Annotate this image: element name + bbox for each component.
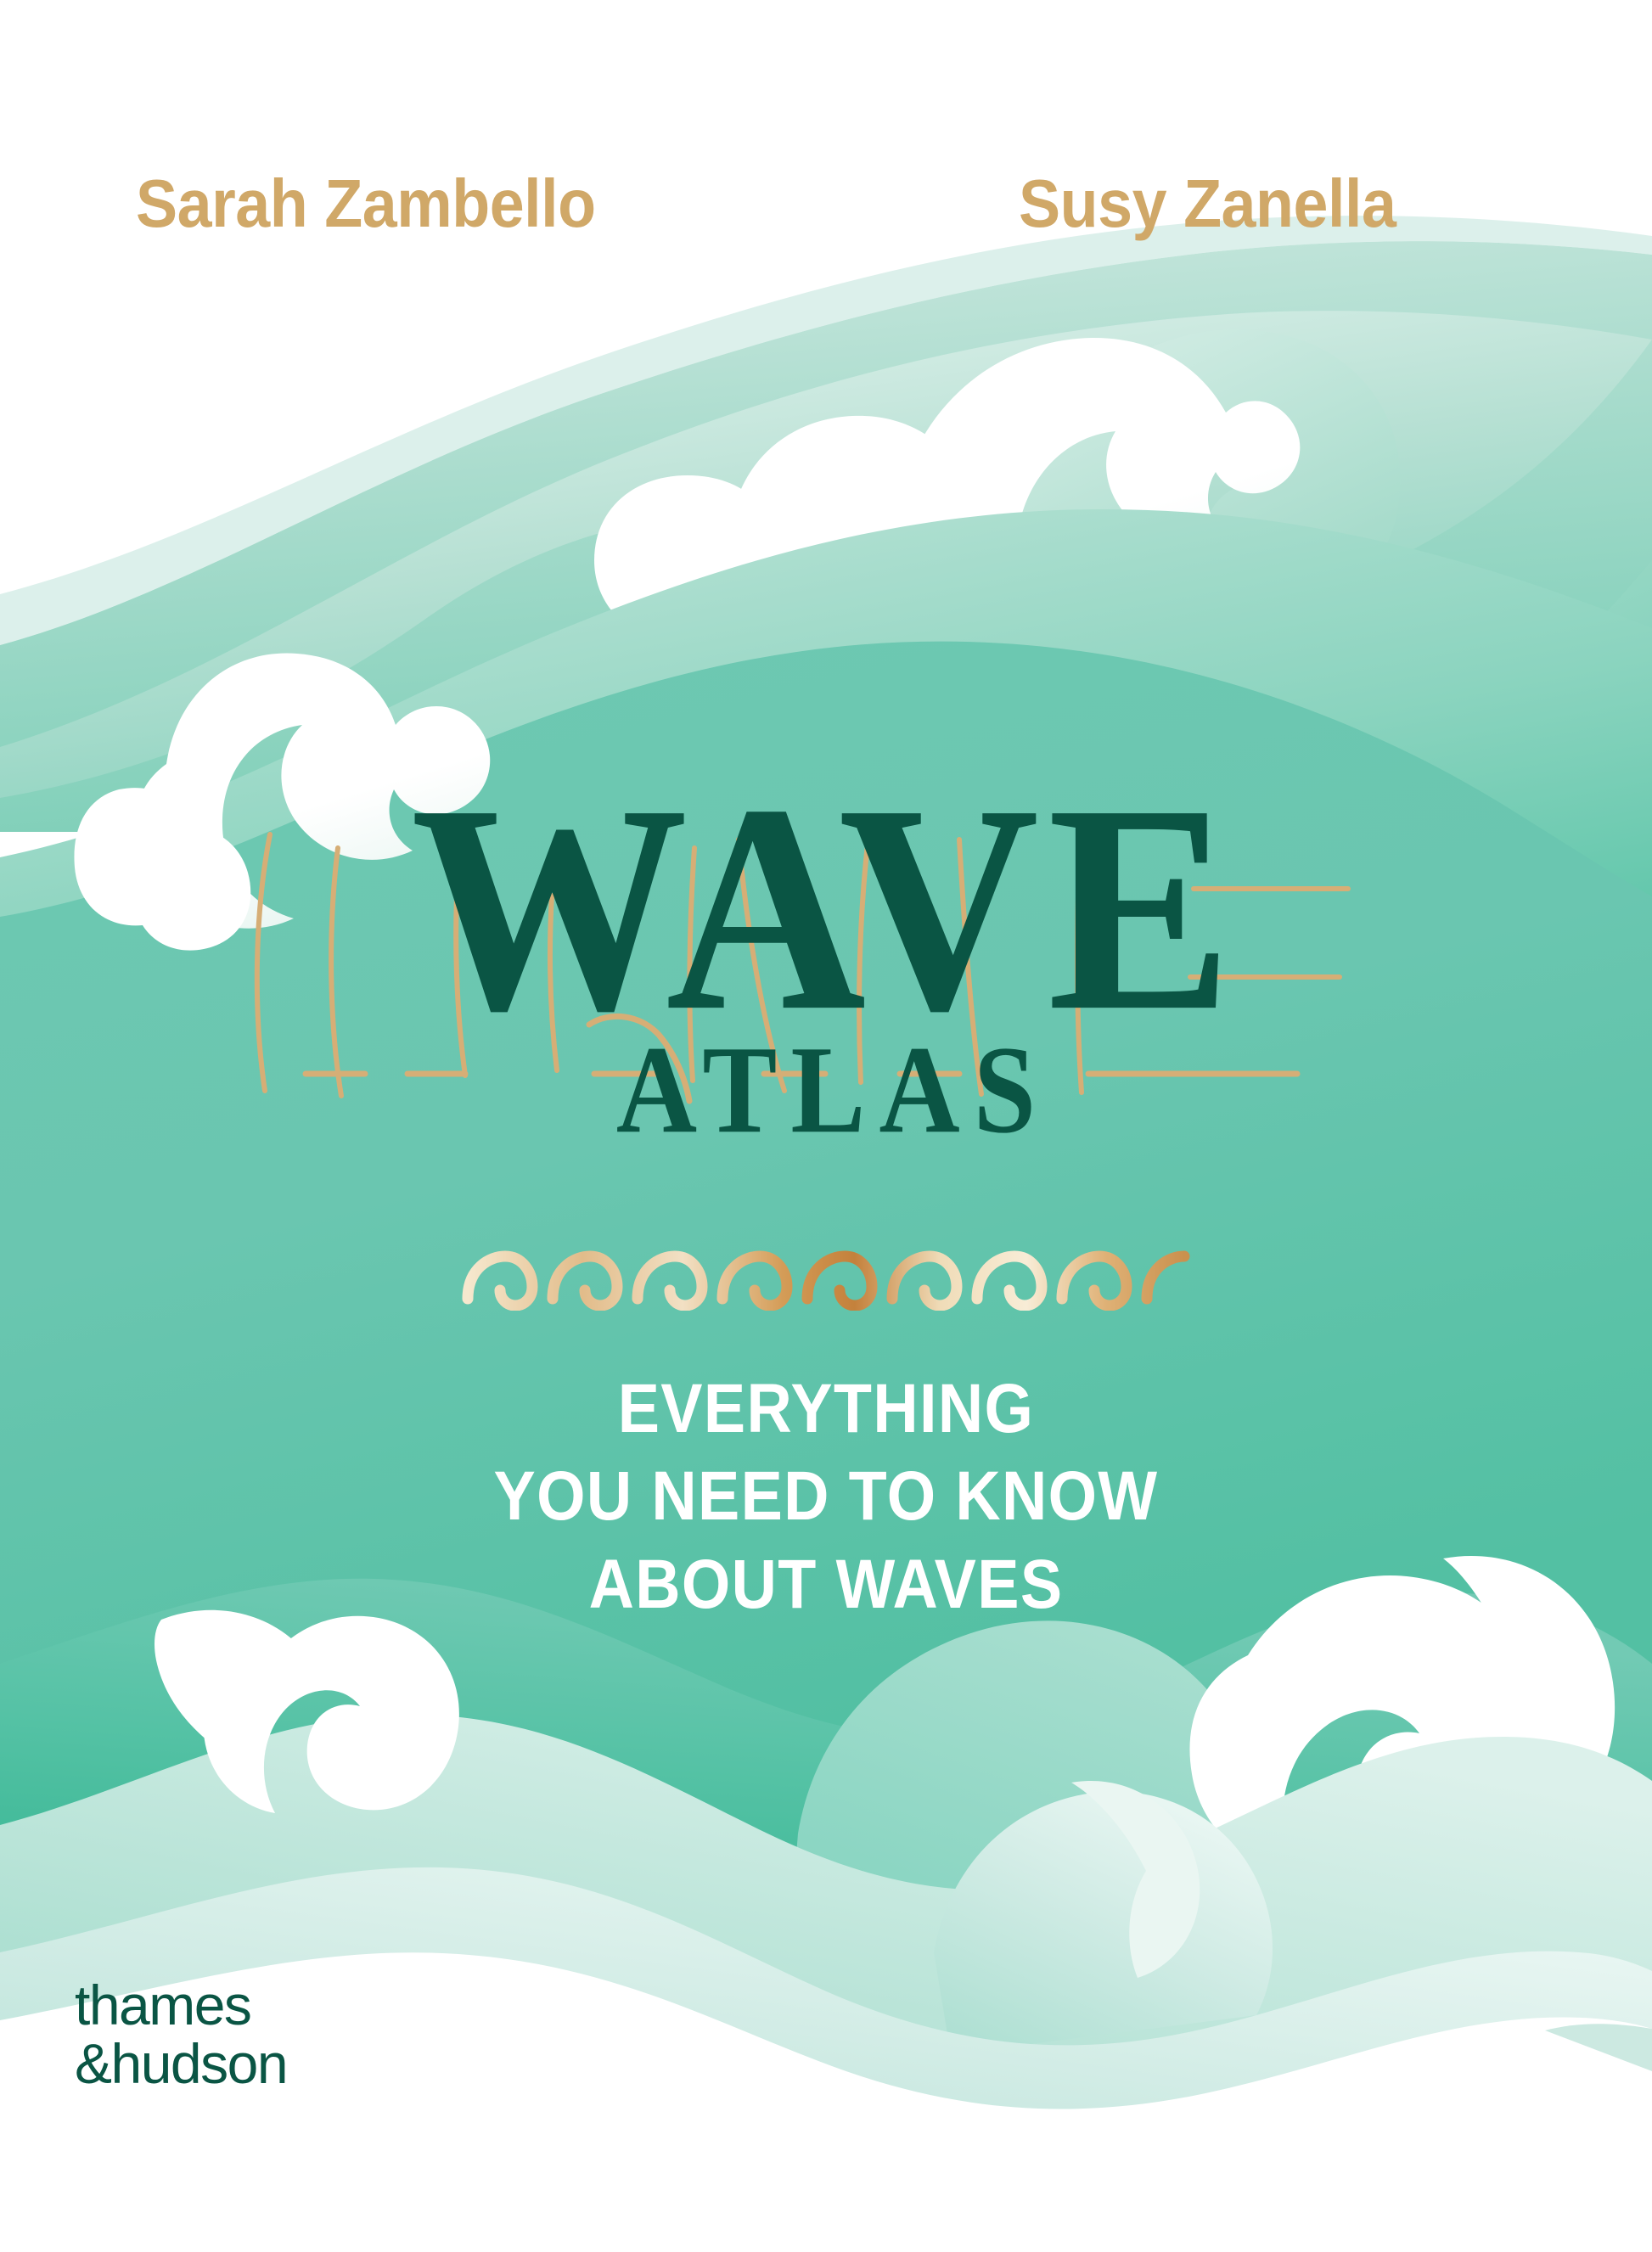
- title-block: WAVE ATLAS: [0, 781, 1652, 1139]
- book-cover: Sarah Zambello Susy Zanella: [0, 0, 1652, 2252]
- publisher-line-1: thames: [75, 1976, 287, 2035]
- wave-squiggle-divider: [0, 1246, 1652, 1315]
- tagline-line-1: EVERYTHING: [82, 1365, 1569, 1452]
- page-subtitle: ATLAS: [0, 1027, 1652, 1153]
- tagline: EVERYTHING YOU NEED TO KNOW ABOUT WAVES: [82, 1365, 1569, 1628]
- squiggle-rule-icon: [461, 1246, 1191, 1311]
- publisher-logo: thames &hudson: [75, 1976, 287, 2092]
- author-name-secondary: Susy Zanella: [1019, 170, 1396, 238]
- publisher-line-2: &hudson: [75, 2035, 287, 2093]
- page-title: WAVE: [411, 781, 1241, 1036]
- author-name-primary: Sarah Zambello: [136, 170, 596, 238]
- cover-text-layer: Sarah Zambello Susy Zanella: [0, 0, 1652, 2252]
- tagline-line-3: ABOUT WAVES: [82, 1541, 1569, 1628]
- tagline-line-2: YOU NEED TO KNOW: [82, 1452, 1569, 1540]
